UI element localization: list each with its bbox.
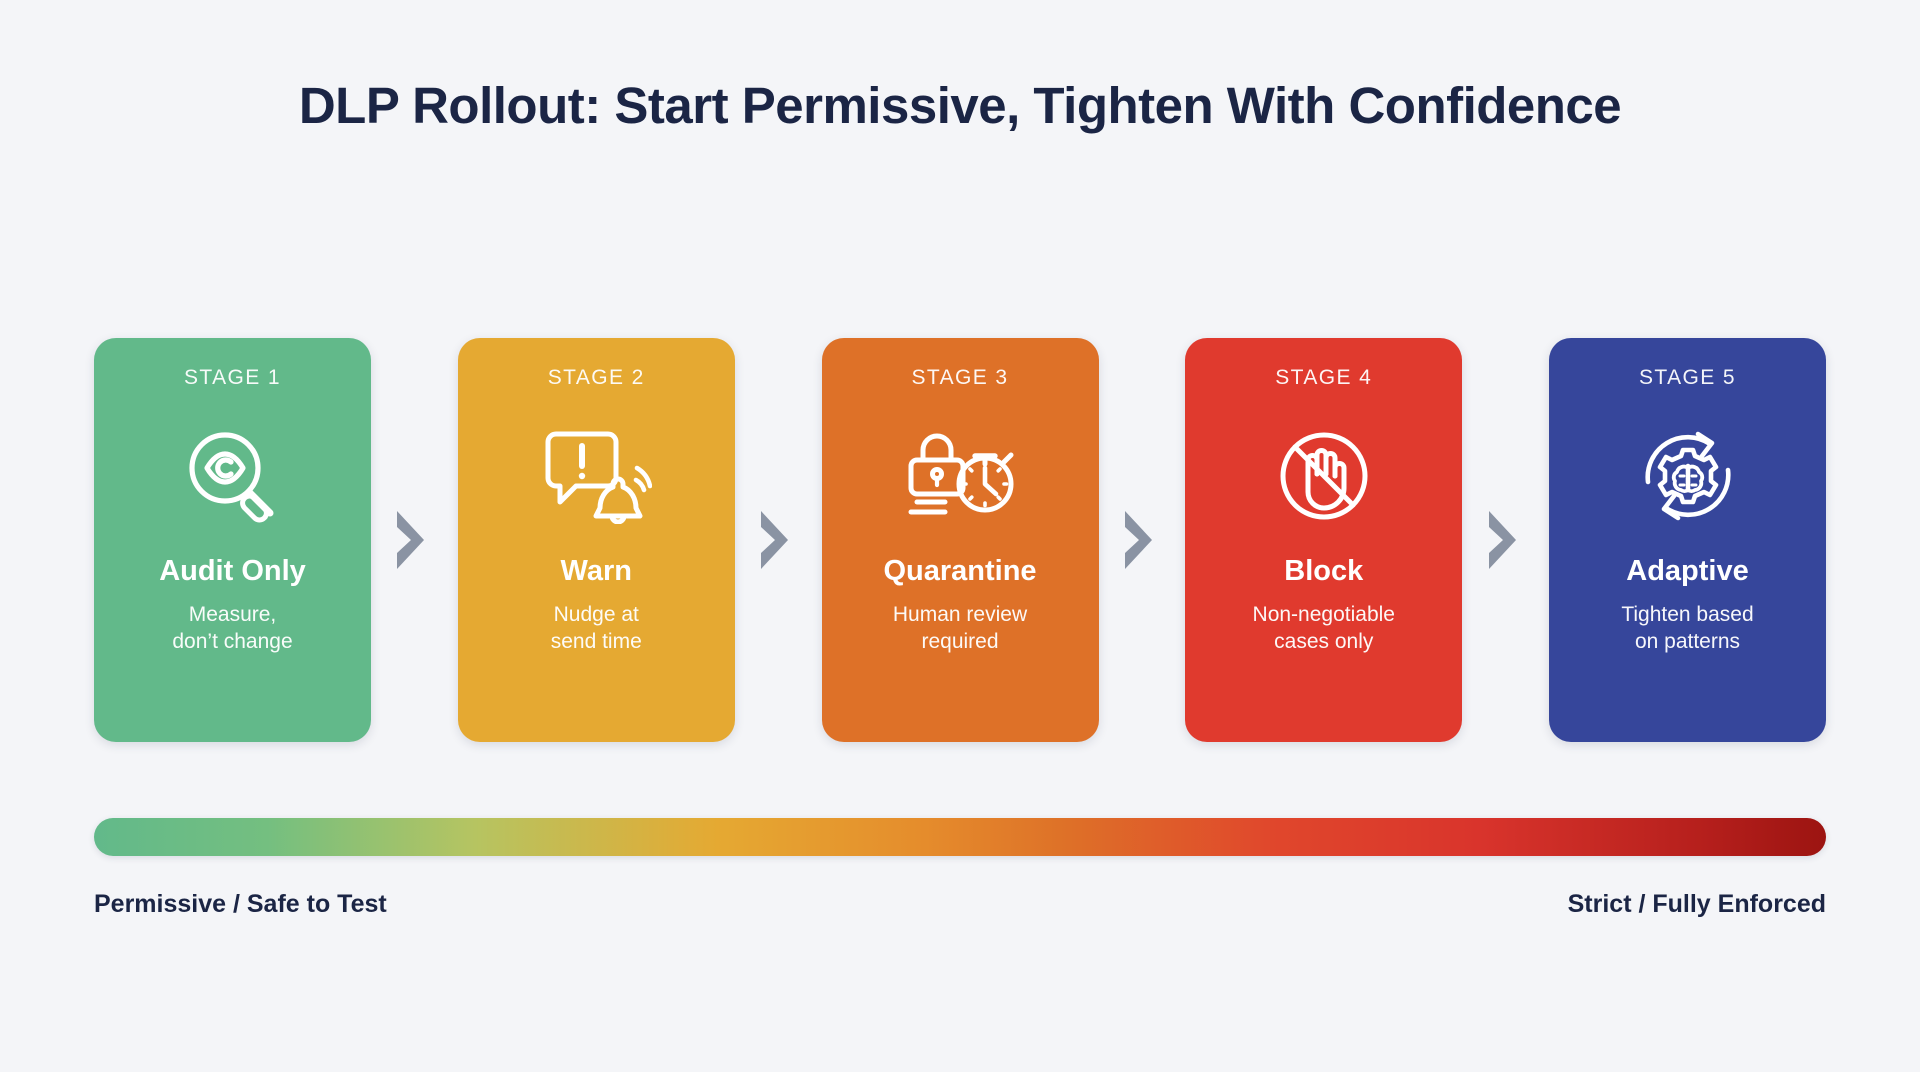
scale-label-right: Strict / Fully Enforced xyxy=(1568,890,1826,919)
stage-name: Block xyxy=(1284,556,1363,588)
severity-scale: Permissive / Safe to Test Strict / Fully… xyxy=(94,818,1826,919)
scale-label-left: Permissive / Safe to Test xyxy=(94,890,387,919)
stage-card-2[interactable]: STAGE 2 Warn Nudge at send time xyxy=(458,338,735,742)
stage-desc: Human review required xyxy=(883,602,1037,656)
stage-card-1[interactable]: STAGE 1 Audit Only Measure, don’t change xyxy=(94,338,371,742)
stage-label: STAGE 1 xyxy=(184,366,281,390)
gradient-bar xyxy=(94,818,1826,856)
stage-name: Warn xyxy=(561,556,632,588)
stage-name: Quarantine xyxy=(883,556,1036,588)
stage-label: STAGE 5 xyxy=(1639,366,1736,390)
stage-label: STAGE 3 xyxy=(912,366,1009,390)
magnifier-eye-icon xyxy=(181,408,285,544)
chevron-right-icon xyxy=(1120,509,1164,571)
chevron-right-icon xyxy=(392,509,436,571)
stage-row: STAGE 1 Audit Only Measure, don’t change… xyxy=(94,338,1826,742)
stage-name: Adaptive xyxy=(1626,556,1748,588)
chevron-right-icon xyxy=(756,509,800,571)
stage-card-4[interactable]: STAGE 4 Block Non-negotiable cases only xyxy=(1185,338,1462,742)
scale-label-row: Permissive / Safe to Test Strict / Fully… xyxy=(94,890,1826,919)
stage-desc: Non-negotiable cases only xyxy=(1243,602,1405,656)
stage-card-3[interactable]: STAGE 3 Quarantine xyxy=(822,338,1099,742)
stage-card-5[interactable]: STAGE 5 Adaptive Tighten based on patter… xyxy=(1549,338,1826,742)
stage-desc: Measure, don’t change xyxy=(162,602,302,656)
gear-brain-refresh-icon xyxy=(1632,408,1744,544)
no-entry-hand-icon xyxy=(1270,408,1378,544)
stage-name: Audit Only xyxy=(159,556,306,588)
stage-desc: Nudge at send time xyxy=(541,602,652,656)
page-title: DLP Rollout: Start Permissive, Tighten W… xyxy=(0,78,1920,134)
stage-label: STAGE 4 xyxy=(1275,366,1372,390)
stage-desc: Tighten based on patterns xyxy=(1611,602,1763,656)
speech-bubble-alert-bell-icon xyxy=(540,408,652,544)
infographic-page: DLP Rollout: Start Permissive, Tighten W… xyxy=(0,0,1920,1072)
chevron-right-icon xyxy=(1484,509,1528,571)
stage-label: STAGE 2 xyxy=(548,366,645,390)
padlock-stopwatch-icon xyxy=(901,408,1019,544)
title-section: DLP Rollout: Start Permissive, Tighten W… xyxy=(0,0,1920,134)
